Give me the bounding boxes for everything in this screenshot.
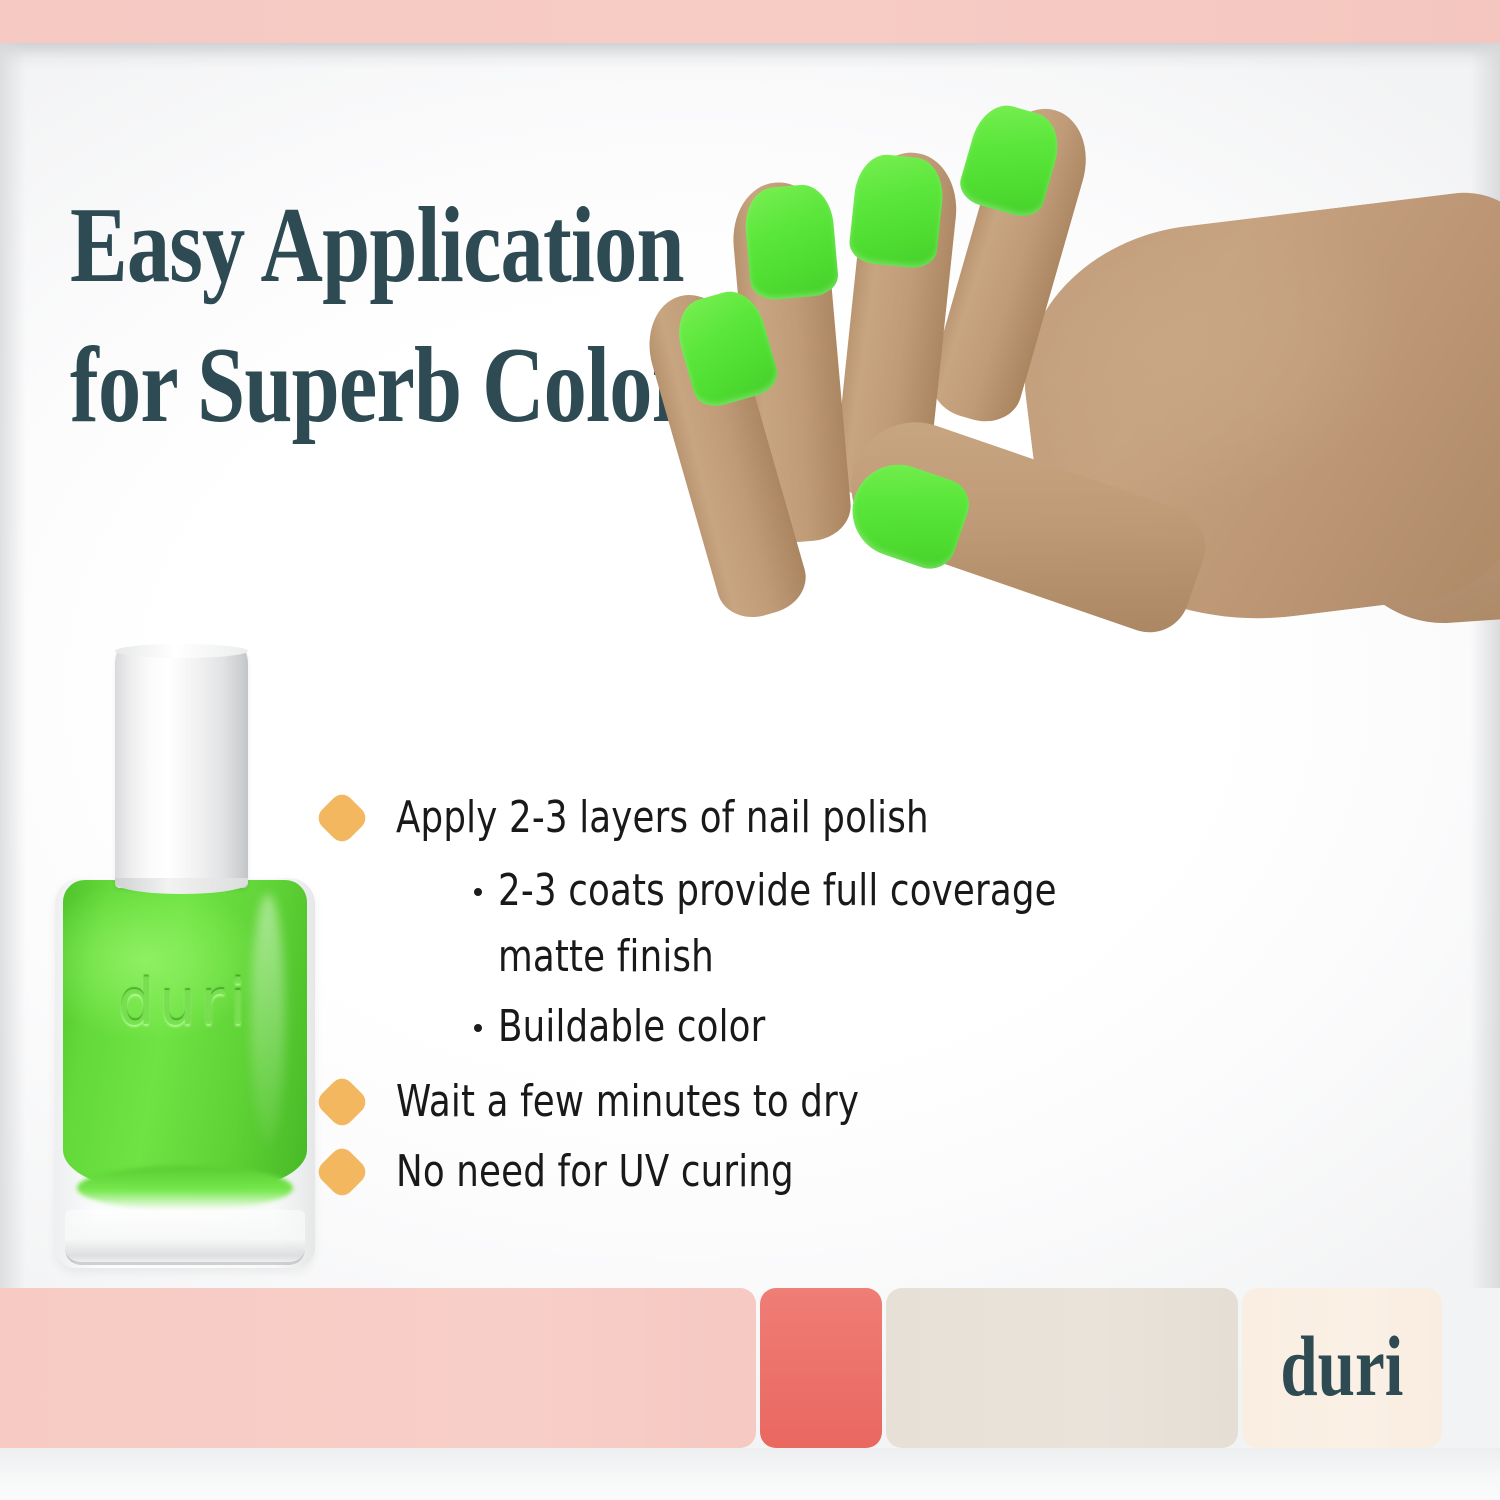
list-item-label: Wait a few minutes to dry xyxy=(396,1070,859,1134)
list-item: Wait a few minutes to dry xyxy=(322,1070,1222,1134)
left-edge-shadow xyxy=(0,43,26,1288)
dot-marker-icon xyxy=(474,1024,482,1032)
top-strip-shadow xyxy=(0,43,1500,69)
instruction-list: Apply 2-3 layers of nail polish 2-3 coat… xyxy=(322,786,1222,1211)
headline-line-1: Easy Application xyxy=(70,176,630,316)
swatch-cream: duri xyxy=(1242,1288,1442,1448)
nail-ring xyxy=(742,182,839,301)
bottle-cap-top xyxy=(115,644,248,658)
sub-list-item-label: Buildable color xyxy=(498,994,765,1060)
nail-polish-bottle: duri xyxy=(55,648,315,1268)
list-item: Apply 2-3 layers of nail polish xyxy=(322,786,1222,850)
sub-list-item: 2-3 coats provide full coverage matte fi… xyxy=(474,858,1222,990)
sub-list-item: Buildable color xyxy=(474,994,1222,1060)
diamond-marker-icon xyxy=(314,1144,371,1201)
bottle-embossed-logo: duri xyxy=(55,966,315,1039)
list-item-label: Apply 2-3 layers of nail polish xyxy=(396,786,929,850)
diamond-marker-icon xyxy=(314,1074,371,1131)
brand-logo: duri xyxy=(1280,1323,1403,1413)
list-item-label: No need for UV curing xyxy=(396,1140,794,1204)
polish-meniscus xyxy=(77,1166,293,1210)
headline-line-2: for Superb Color xyxy=(70,316,630,456)
bottle-base xyxy=(65,1210,305,1265)
bottom-shadow xyxy=(0,1448,1500,1500)
sub-list-item-label: 2-3 coats provide full coverage matte fi… xyxy=(498,858,1150,990)
product-infographic: Easy Application for Superb Color duri A… xyxy=(0,0,1500,1500)
swatch-coral xyxy=(760,1288,882,1448)
dot-marker-icon xyxy=(474,888,482,896)
swatch-light-pink xyxy=(0,1288,756,1448)
bottle-cap xyxy=(115,648,248,888)
top-pink-strip xyxy=(0,0,1500,43)
swatch-beige xyxy=(886,1288,1238,1448)
bottom-color-bar: duri xyxy=(0,1288,1500,1448)
nail-middle xyxy=(847,152,946,271)
list-item: No need for UV curing xyxy=(322,1140,1222,1204)
page-title: Easy Application for Superb Color xyxy=(70,176,630,457)
sub-list: 2-3 coats provide full coverage matte fi… xyxy=(322,858,1222,1060)
diamond-marker-icon xyxy=(314,790,371,847)
hand-with-painted-nails xyxy=(700,90,1500,730)
